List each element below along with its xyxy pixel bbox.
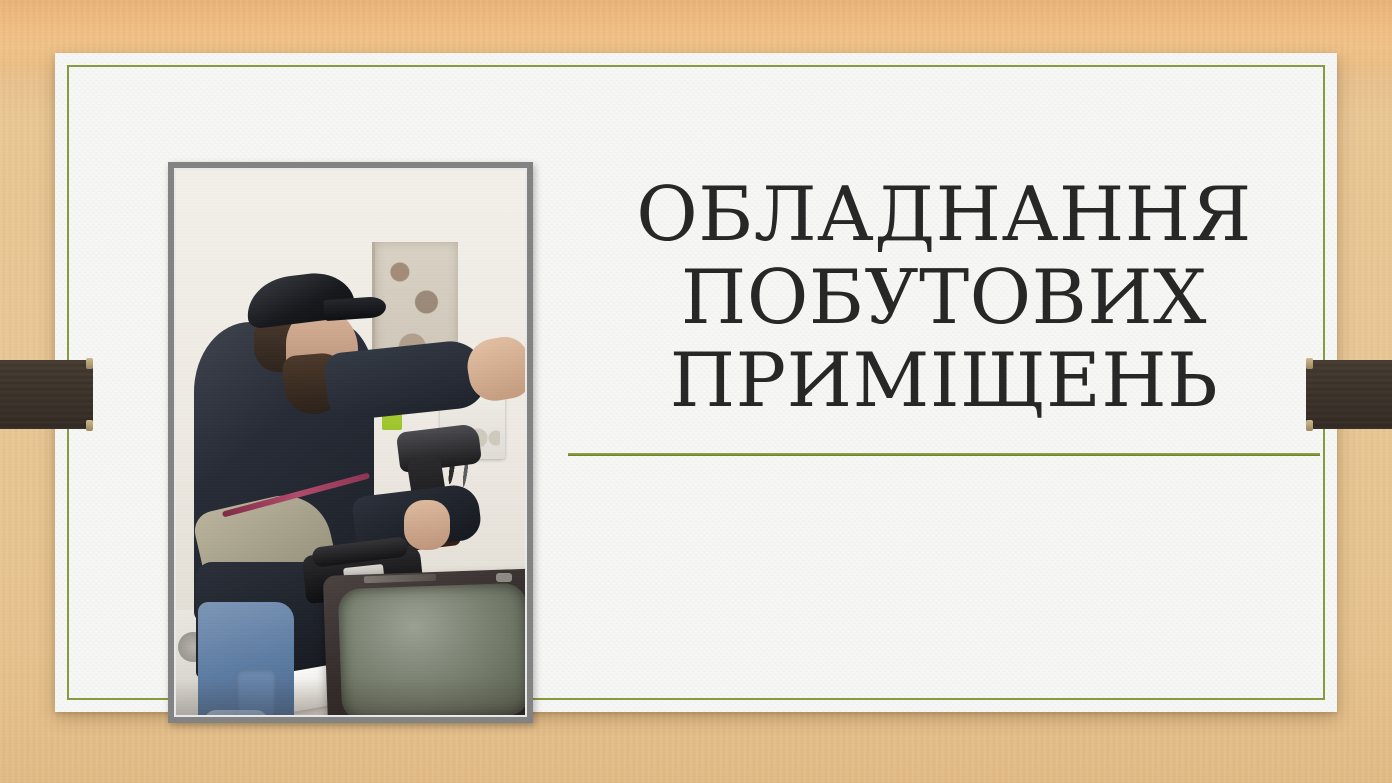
ribbon-tab-bottom bbox=[1306, 420, 1313, 431]
photo-frame[interactable] bbox=[168, 162, 533, 723]
tv-logo bbox=[496, 573, 512, 582]
photo-vignette bbox=[176, 679, 525, 715]
title-underline-rule bbox=[568, 453, 1320, 456]
title-block: ОБЛАДНАННЯ ПОБУТОВИХ ПРИМІЩЕНЬ bbox=[568, 173, 1320, 422]
ribbon-tab-top bbox=[1306, 358, 1313, 369]
photo-bevel bbox=[174, 168, 527, 717]
left-ribbon-banner bbox=[0, 360, 93, 429]
hand-on-drill bbox=[404, 500, 450, 550]
ribbon-tab-top bbox=[86, 358, 93, 369]
slide-stage: ОБЛАДНАННЯ ПОБУТОВИХ ПРИМІЩЕНЬ bbox=[0, 0, 1392, 783]
right-ribbon-banner bbox=[1306, 360, 1392, 429]
worker-drilling-wall-photo bbox=[176, 170, 525, 715]
page-title: ОБЛАДНАННЯ ПОБУТОВИХ ПРИМІЩЕНЬ bbox=[568, 173, 1320, 422]
slide-card: ОБЛАДНАННЯ ПОБУТОВИХ ПРИМІЩЕНЬ bbox=[55, 53, 1337, 712]
ribbon-tab-bottom bbox=[86, 420, 93, 431]
